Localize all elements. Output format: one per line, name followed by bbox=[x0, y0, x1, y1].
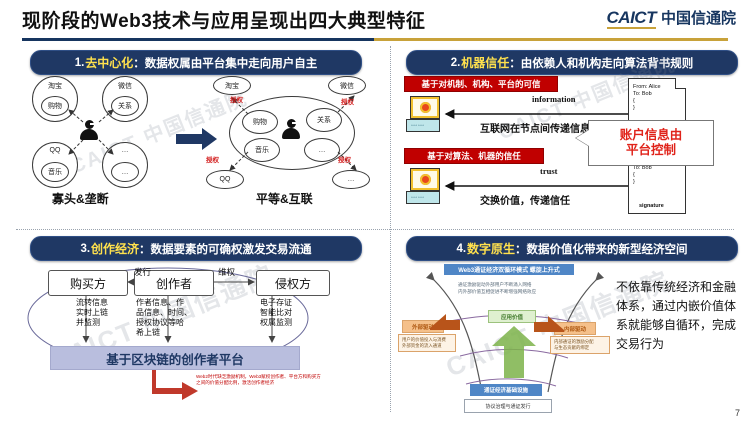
trust-banner-algorithm: 基于对算法、机器的信任 bbox=[404, 148, 544, 164]
infrastructure-note: 协议治理与通证发行 bbox=[464, 399, 552, 413]
auth-label-wechat: 授权 bbox=[341, 96, 354, 106]
trust-caption: 交换价值，传递信任 bbox=[480, 192, 570, 207]
slide-header: 现阶段的Web3技术与应用呈现出四大典型特征 CAICT 中国信通院 bbox=[0, 0, 750, 42]
right-inflow-arrow-icon bbox=[532, 312, 566, 334]
column-text-creator: 作者信息、作 品信息、时间、 授权协议等哈 希上链 bbox=[136, 298, 192, 338]
quadrant-4-subtitle: 数据价值化带来的新型经济空间 bbox=[527, 241, 688, 257]
keyboard-icon-2: ▫▫▫▫▫▫ bbox=[406, 191, 440, 204]
quadrant-1-separator: ： bbox=[133, 55, 145, 71]
logo-en-text: CAICT bbox=[607, 9, 656, 29]
quadrant-grid: 1. 去中心化 ： 数据权属由平台集中走向用户自主 CAICT 中国信通院 淘宝… bbox=[16, 46, 734, 412]
grid-horizontal-divider bbox=[16, 229, 734, 230]
quadrant-machine-trust: 2. 机器信任 ： 由依赖人和机构走向算法背书规则 CAICT 中国信通院 基于… bbox=[392, 46, 750, 229]
header-divider-navy bbox=[22, 38, 374, 41]
infrastructure-tag: 通证经济基础设施 bbox=[470, 384, 542, 396]
trust-banner-institution: 基于对机制、机构、平台的可信 bbox=[404, 76, 558, 92]
quadrant-creator-economy: 3. 创作经济 ： 数据要素的可确权激发交易流通 CAICT 中国信通院 bbox=[16, 232, 374, 415]
quadrant-4-separator: ： bbox=[515, 241, 527, 257]
quadrant-2-separator: ： bbox=[509, 55, 521, 71]
quadrant-3-keyword: 创作经济 bbox=[91, 240, 139, 257]
quadrant-3-number: 3. bbox=[80, 243, 90, 255]
auth-label-other: 授权 bbox=[338, 154, 351, 164]
creator-economy-diagram: CAICT 中国信通院 购买方 创作者 侵权方 发行 维权 流转信息 实时上链 bbox=[16, 260, 374, 415]
information-caption: 互联网在节点间传递信息 bbox=[480, 120, 590, 135]
creator-footnote: Web2时代缺乏激励机制，Web3赋权创作者、平台方和购买方 之间的价值分配比例… bbox=[196, 374, 321, 386]
external-drive-note: 用户的价值投入与消费 外部资金的流入通道 bbox=[398, 334, 456, 352]
header-divider-gold bbox=[374, 38, 728, 41]
quadrant-2-keyword: 机器信任 bbox=[461, 54, 509, 71]
decentralization-diagram: CAICT 中国信通院 淘宝 购物 微信 关系 QQ 音乐 … … bbox=[16, 74, 374, 229]
quadrant-4-number: 4. bbox=[456, 243, 466, 255]
internal-drive-note: 内部通证的激励分配 与生态贡献的绑定 bbox=[550, 336, 610, 354]
doc-fold-1 bbox=[675, 78, 686, 89]
account-control-callout-text: 账户信息由 平台控制 bbox=[620, 128, 683, 158]
page-title: 现阶段的Web3技术与应用呈现出四大典型特征 bbox=[22, 6, 425, 33]
oligopoly-caption: 寡头&垄断 bbox=[52, 190, 109, 207]
logo-cn-text: 中国信通院 bbox=[661, 10, 736, 28]
quadrant-1-keyword: 去中心化 bbox=[85, 54, 133, 71]
oligopoly-arrows bbox=[21, 74, 171, 194]
keyboard-keys-1: ▫▫▫▫▫▫ bbox=[411, 123, 425, 129]
account-control-callout: 账户信息由 平台控制 bbox=[588, 120, 714, 166]
quadrant-1-number: 1. bbox=[75, 57, 85, 69]
quadrant-decentralization: 1. 去中心化 ： 数据权属由平台集中走向用户自主 CAICT 中国信通院 淘宝… bbox=[16, 46, 374, 229]
digital-native-diagram: CAICT 中国信通院 Web3通证经济双循环模式 螺旋上升式 通证激励驱动外部… bbox=[392, 260, 750, 415]
gear-icon-1 bbox=[420, 102, 431, 113]
quadrant-2-subtitle: 由依赖人和机构走向算法背书规则 bbox=[521, 55, 694, 71]
keyboard-icon-1: ▫▫▫▫▫▫ bbox=[406, 119, 440, 132]
column-text-infringer: 电子存证 智能比对 权属监测 bbox=[260, 298, 292, 328]
token-model-top-note: 通证激励驱动外部用户不断涌入网络 内外部价值互相促进不断增强网络效应 bbox=[458, 282, 536, 295]
application-value-tag: 应用价值 bbox=[488, 310, 536, 323]
computer-screen-1 bbox=[413, 99, 437, 116]
column-text-buyer: 流转信息 实时上链 并监测 bbox=[76, 298, 108, 328]
computer-screen-2 bbox=[413, 171, 437, 188]
quadrant-4-banner: 4. 数字原生 ： 数据价值化带来的新型经济空间 bbox=[406, 236, 738, 261]
node-infringer: 侵权方 bbox=[256, 270, 330, 296]
quadrant-1-subtitle: 数据权属由平台集中走向用户自主 bbox=[145, 55, 318, 71]
auth-label-taobao: 授权 bbox=[230, 94, 243, 104]
quadrant-3-subtitle: 数据要素的可确权激发交易流通 bbox=[151, 241, 312, 257]
quadrant-1-banner: 1. 去中心化 ： 数据权属由平台集中走向用户自主 bbox=[30, 50, 362, 75]
quadrant-3-separator: ： bbox=[139, 241, 151, 257]
trust-label: trust bbox=[540, 166, 557, 176]
quadrant-4-keyword: 数字原生 bbox=[467, 240, 515, 257]
auth-label-qq: 授权 bbox=[206, 154, 219, 164]
blockchain-platform-bar: 基于区块链的创作者平台 bbox=[50, 346, 300, 370]
message-doc-2-signature: signature bbox=[639, 203, 664, 209]
quadrant-2-number: 2. bbox=[451, 57, 461, 69]
callout-tail-icon bbox=[576, 130, 589, 146]
gear-icon-2 bbox=[420, 174, 431, 185]
quadrant-3-banner: 3. 创作经济 ： 数据要素的可确权激发交易流通 bbox=[30, 236, 362, 261]
authorization-arrows bbox=[196, 74, 396, 194]
token-model-title-bar: Web3通证经济双循环模式 螺旋上升式 bbox=[444, 264, 574, 275]
quadrant-2-banner: 2. 机器信任 ： 由依赖人和机构走向算法背书规则 bbox=[406, 50, 738, 75]
slide-root: 现阶段的Web3技术与应用呈现出四大典型特征 CAICT 中国信通院 1. 去中… bbox=[0, 0, 750, 422]
computer-icon-1 bbox=[410, 96, 440, 119]
page-number: 7 bbox=[735, 408, 740, 418]
equal-connected-caption: 平等&互联 bbox=[256, 190, 313, 207]
keyboard-keys-2: ▫▫▫▫▫▫ bbox=[411, 195, 425, 201]
edge-label-issue: 发行 bbox=[134, 266, 151, 278]
information-label: information bbox=[532, 94, 575, 104]
left-inflow-arrow-icon bbox=[428, 310, 462, 332]
digital-native-description: 不依靠传统经济和金融体系，通过内嵌价值体系就能够自循环，完成交易行为 bbox=[616, 278, 736, 354]
header-divider bbox=[22, 38, 728, 41]
machine-trust-diagram: CAICT 中国信通院 基于对机制、机构、平台的可信 ▫▫▫▫▫▫ From: … bbox=[392, 74, 750, 229]
computer-icon-2 bbox=[410, 168, 440, 191]
quadrant-digital-native: 4. 数字原生 ： 数据价值化带来的新型经济空间 CAICT 中国信通院 bbox=[392, 232, 750, 415]
node-buyer: 购买方 bbox=[48, 270, 128, 296]
edge-label-rights: 维权 bbox=[218, 266, 235, 278]
caict-logo: CAICT 中国信通院 bbox=[607, 9, 736, 29]
